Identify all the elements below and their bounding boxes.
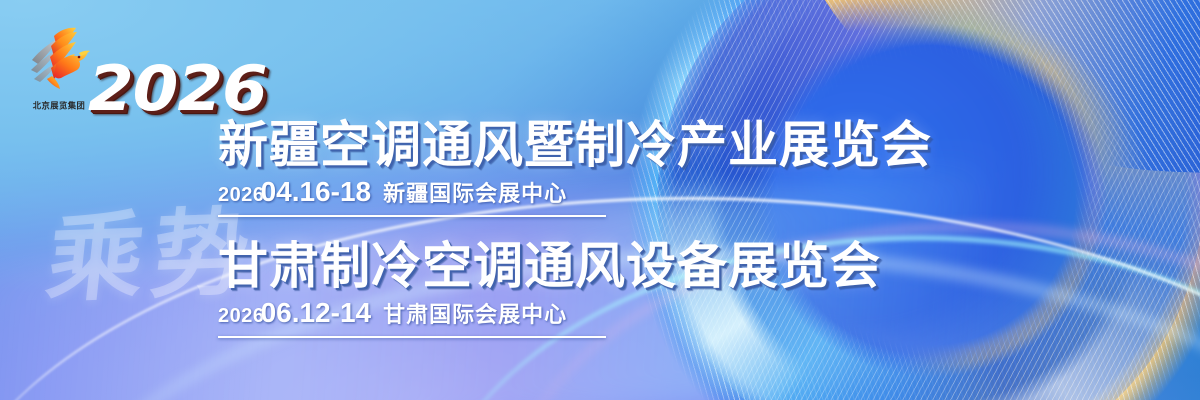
event-venue-1: 新疆国际会展中心	[383, 176, 567, 208]
event-entry-1: 新疆空调通风暨制冷产业展览会 2026.04.16-18 新疆国际会展中心	[218, 118, 878, 217]
event-date-range-1: 04.16-18	[261, 176, 372, 207]
event-date-range-2: 06.12-14	[261, 297, 372, 328]
year-label: 2026	[88, 58, 267, 120]
event-date-2: 2026.06.12-14	[218, 297, 371, 329]
event-venue-2: 甘肃国际会展中心	[383, 297, 567, 329]
spacer	[218, 217, 878, 239]
phoenix-bird-icon	[26, 26, 92, 98]
divider-rule-2	[218, 336, 606, 338]
organizer-logo: 北京展览集团	[20, 26, 98, 112]
event-title-2: 甘肃制冷空调通风设备展览会	[218, 239, 878, 293]
event-entry-2: 甘肃制冷空调通风设备展览会 2026.06.12-14 甘肃国际会展中心	[218, 239, 878, 338]
organizer-name-cn: 北京展览集团	[23, 100, 95, 112]
event-banner: 乘势	[0, 0, 1200, 400]
event-title-1: 新疆空调通风暨制冷产业展览会	[218, 118, 878, 172]
event-meta-2: 2026.06.12-14 甘肃国际会展中心	[218, 297, 878, 329]
event-meta-1: 2026.04.16-18 新疆国际会展中心	[218, 176, 878, 208]
event-date-1: 2026.04.16-18	[218, 176, 371, 208]
event-text-block: 新疆空调通风暨制冷产业展览会 2026.04.16-18 新疆国际会展中心 甘肃…	[218, 118, 878, 338]
